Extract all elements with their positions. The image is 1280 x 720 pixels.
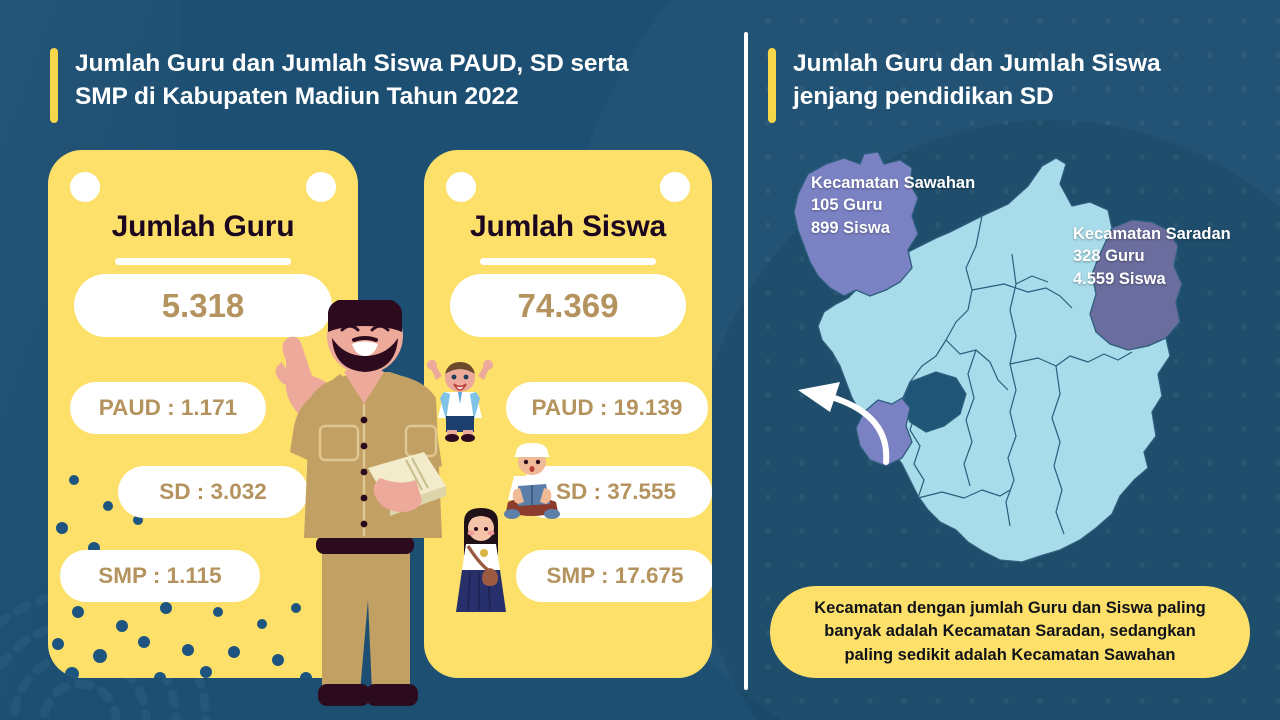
card-title-underline xyxy=(480,258,656,265)
stat-pill-guru-sd: SD : 3.032 xyxy=(118,466,308,518)
header-accent-bar-right xyxy=(768,48,776,123)
card-hole-right xyxy=(660,172,690,202)
map-label-saradan: Kecamatan Saradan 328 Guru 4.559 Siswa xyxy=(1073,223,1231,290)
right-header-title: Jumlah Guru dan Jumlah Siswa jenjang pen… xyxy=(793,48,1161,113)
left-header-title: Jumlah Guru dan Jumlah Siswa PAUD, SD se… xyxy=(75,48,628,113)
stat-pill-siswa-sd: SD : 37.555 xyxy=(520,466,712,518)
total-value-siswa: 74.369 xyxy=(450,274,686,337)
stat-pill-guru-smp: SMP : 1.115 xyxy=(60,550,260,602)
stat-card-jumlah-siswa: Jumlah Siswa 74.369 PAUD : 19.139 SD : 3… xyxy=(424,150,712,678)
total-value-guru: 5.318 xyxy=(74,274,332,337)
stat-pill-siswa-paud: PAUD : 19.139 xyxy=(506,382,708,434)
card-title-guru: Jumlah Guru xyxy=(48,210,358,244)
card-title-siswa: Jumlah Siswa xyxy=(424,210,712,244)
stat-pill-guru-paud: PAUD : 1.171 xyxy=(70,382,266,434)
vertical-divider xyxy=(744,32,748,690)
left-panel-header: Jumlah Guru dan Jumlah Siswa PAUD, SD se… xyxy=(50,48,628,123)
card-hole-right xyxy=(306,172,336,202)
map-caption-box: Kecamatan dengan jumlah Guru dan Siswa p… xyxy=(770,586,1250,678)
card-hole-left xyxy=(446,172,476,202)
card-hole-left xyxy=(70,172,100,202)
stat-pill-siswa-smp: SMP : 17.675 xyxy=(516,550,712,602)
stat-card-jumlah-guru: Jumlah Guru 5.318 PAUD : 1.171 SD : 3.03… xyxy=(48,150,358,678)
card-title-underline xyxy=(115,258,291,265)
infographic-canvas: Jumlah Guru dan Jumlah Siswa PAUD, SD se… xyxy=(0,0,1280,720)
map-label-sawahan: Kecamatan Sawahan 105 Guru 899 Siswa xyxy=(811,172,975,239)
right-panel-header: Jumlah Guru dan Jumlah Siswa jenjang pen… xyxy=(768,48,1161,123)
header-accent-bar-left xyxy=(50,48,58,123)
